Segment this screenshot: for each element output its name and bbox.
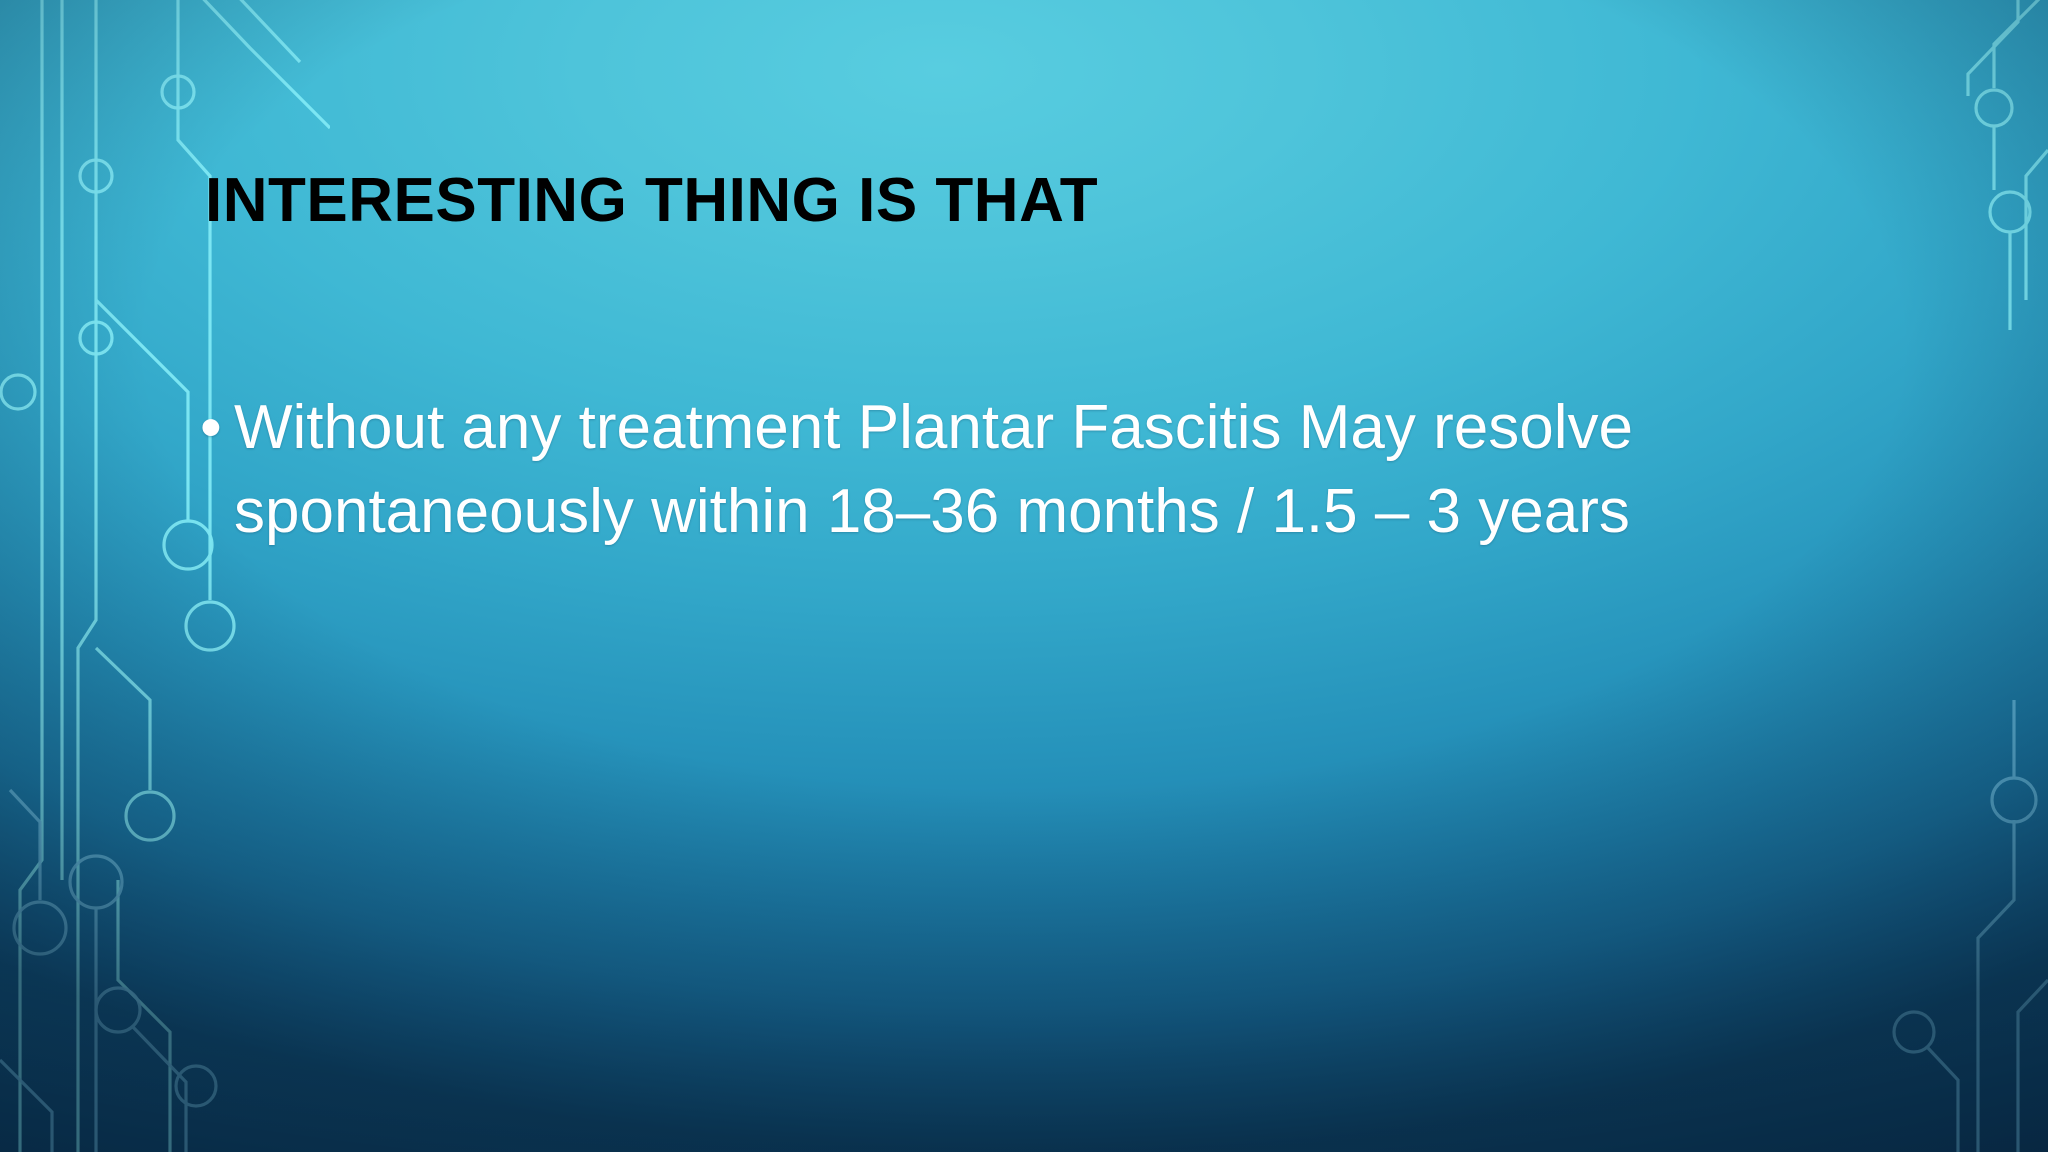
slide-canvas: Interesting Thing is that • Without any … <box>0 0 2048 1152</box>
bullet-text: Without any treatment Plantar Fascitis M… <box>234 386 1834 555</box>
slide-title: Interesting Thing is that <box>205 168 1845 234</box>
bullet-marker-icon: • <box>200 386 234 470</box>
bullet-list-item: • Without any treatment Plantar Fascitis… <box>200 386 1900 555</box>
slide-body: • Without any treatment Plantar Fascitis… <box>200 386 1900 555</box>
